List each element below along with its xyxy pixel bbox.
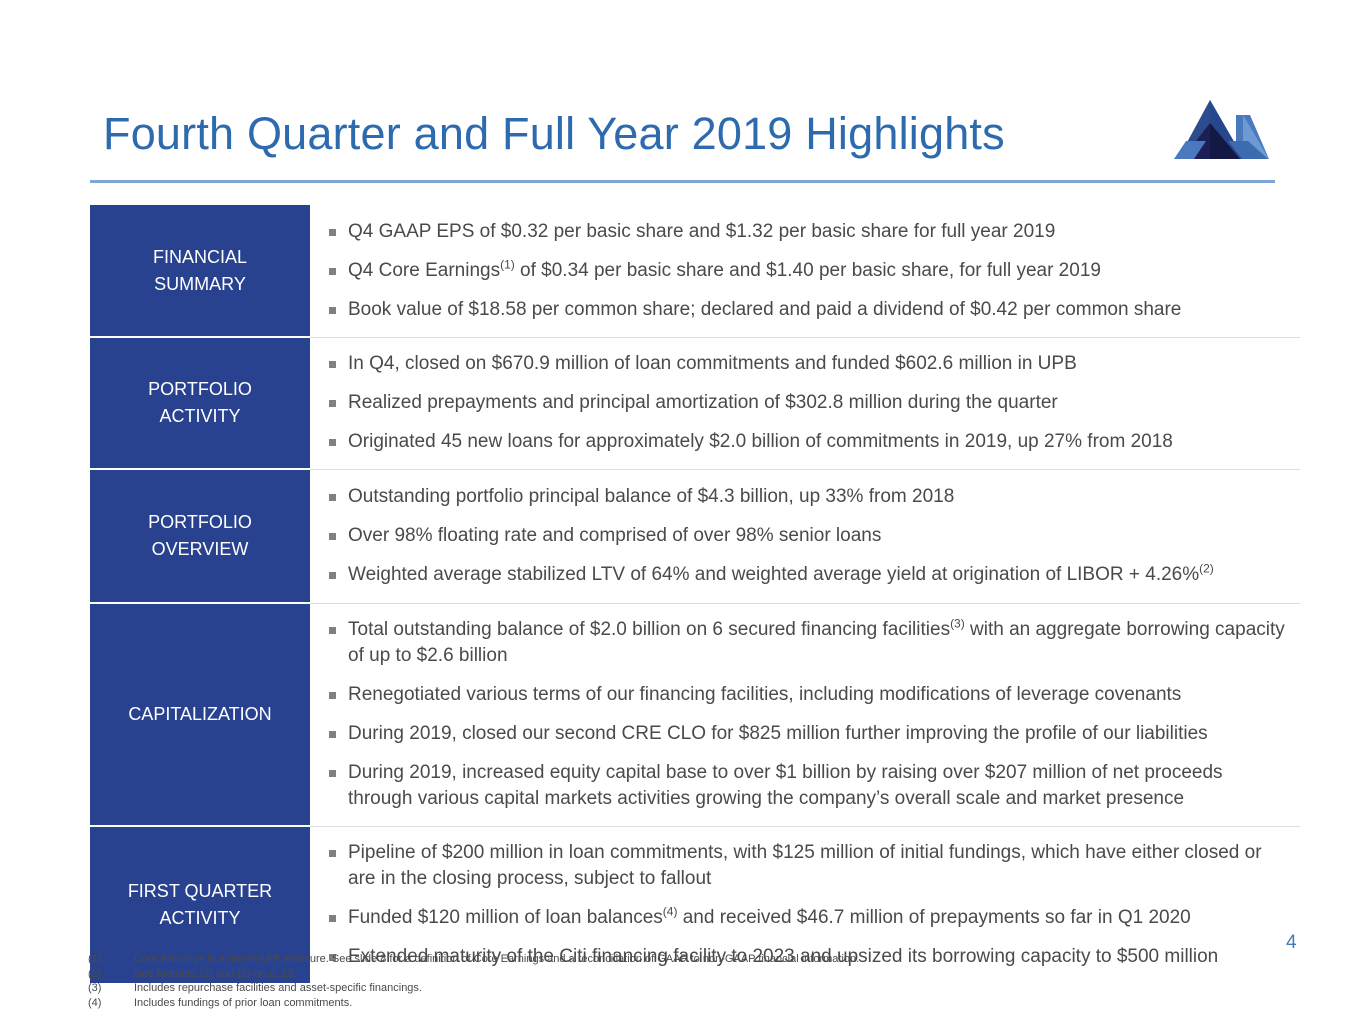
footnote-row: (1) Core Earnings is a non-GAAP measure.…: [88, 952, 1088, 967]
list-item: Renegotiated various terms of our financ…: [310, 682, 1292, 708]
list-item: Total outstanding balance of $2.0 billio…: [310, 617, 1292, 669]
section-label-financial-summary: FINANCIAL SUMMARY: [90, 205, 310, 338]
bullet-text: Renegotiated various terms of our financ…: [348, 684, 1181, 705]
square-bullet-icon: [329, 439, 336, 446]
square-bullet-icon: [329, 229, 336, 236]
square-bullet-icon: [329, 268, 336, 275]
bullet-text: Total outstanding balance of $2.0 billio…: [348, 619, 1285, 666]
footnote-row: (2) See footnote (2) and (3) on p. 13.: [88, 967, 1088, 982]
page-title: Fourth Quarter and Full Year 2019 Highli…: [103, 96, 1005, 172]
section-body-financial-summary: Q4 GAAP EPS of $0.32 per basic share and…: [310, 205, 1300, 337]
table-row-capitalization: CAPITALIZATION Total outstanding balance…: [90, 604, 1300, 827]
footnote-reference: (4): [663, 905, 678, 919]
square-bullet-icon: [329, 494, 336, 501]
list-item: Funded $120 million of loan balances(4) …: [310, 905, 1292, 931]
footnote-text: Includes fundings of prior loan commitme…: [134, 996, 1088, 1011]
footnote-reference: (3): [950, 617, 965, 631]
table-row-portfolio-overview: PORTFOLIO OVERVIEW Outstanding portfolio…: [90, 470, 1300, 604]
list-item: Realized prepayments and principal amort…: [310, 390, 1292, 416]
section-label-line: FIRST QUARTER: [128, 878, 272, 905]
bullet-text: Outstanding portfolio principal balance …: [348, 486, 954, 507]
square-bullet-icon: [329, 572, 336, 579]
list-item: In Q4, closed on $670.9 million of loan …: [310, 351, 1292, 377]
bullet-text: Book value of $18.58 per common share; d…: [348, 299, 1181, 320]
footnote-marker: (3): [88, 981, 134, 996]
footnote-row: (3) Includes repurchase facilities and a…: [88, 981, 1088, 996]
section-label-portfolio-overview: PORTFOLIO OVERVIEW: [90, 470, 310, 604]
bullet-text: Realized prepayments and principal amort…: [348, 392, 1058, 413]
square-bullet-icon: [329, 627, 336, 634]
highlights-table: FINANCIAL SUMMARY Q4 GAAP EPS of $0.32 p…: [90, 205, 1300, 984]
page-number: 4: [1286, 932, 1297, 954]
section-body-capitalization: Total outstanding balance of $2.0 billio…: [310, 604, 1300, 826]
bullet-text: In Q4, closed on $670.9 million of loan …: [348, 353, 1077, 374]
list-item: Q4 GAAP EPS of $0.32 per basic share and…: [310, 219, 1292, 245]
footnote-marker: (2): [88, 967, 134, 982]
square-bullet-icon: [329, 915, 336, 922]
section-body-portfolio-overview: Outstanding portfolio principal balance …: [310, 470, 1300, 603]
footnote-row: (4) Includes fundings of prior loan comm…: [88, 996, 1088, 1011]
footnote-reference: (1): [500, 258, 515, 272]
square-bullet-icon: [329, 307, 336, 314]
bullet-list: Total outstanding balance of $2.0 billio…: [310, 617, 1292, 812]
list-item: Pipeline of $200 million in loan commitm…: [310, 840, 1292, 892]
square-bullet-icon: [329, 692, 336, 699]
section-label-capitalization: CAPITALIZATION: [90, 604, 310, 827]
section-label-line: OVERVIEW: [148, 536, 252, 563]
square-bullet-icon: [329, 770, 336, 777]
footnotes-block: (1) Core Earnings is a non-GAAP measure.…: [88, 952, 1088, 1010]
list-item: Originated 45 new loans for approximatel…: [310, 429, 1292, 455]
bullet-text: Weighted average stabilized LTV of 64% a…: [348, 564, 1214, 585]
bullet-text: During 2019, increased equity capital ba…: [348, 762, 1223, 809]
section-label-line: FINANCIAL: [153, 244, 247, 271]
square-bullet-icon: [329, 400, 336, 407]
mountain-logo: [1172, 97, 1272, 167]
footnote-text: Includes repurchase facilities and asset…: [134, 981, 1088, 996]
bullet-text: Funded $120 million of loan balances(4) …: [348, 907, 1191, 928]
bullet-list: Outstanding portfolio principal balance …: [310, 484, 1292, 588]
list-item: Q4 Core Earnings(1) of $0.34 per basic s…: [310, 258, 1292, 284]
bullet-list: Q4 GAAP EPS of $0.32 per basic share and…: [310, 219, 1292, 323]
list-item: Weighted average stabilized LTV of 64% a…: [310, 562, 1292, 588]
footnote-marker: (4): [88, 996, 134, 1011]
slide-header: Fourth Quarter and Full Year 2019 Highli…: [90, 96, 1305, 186]
square-bullet-icon: [329, 533, 336, 540]
footnote-marker: (1): [88, 952, 134, 967]
bullet-text: Originated 45 new loans for approximatel…: [348, 431, 1173, 452]
list-item: During 2019, closed our second CRE CLO f…: [310, 721, 1292, 747]
bullet-text: Pipeline of $200 million in loan commitm…: [348, 842, 1262, 889]
list-item: Outstanding portfolio principal balance …: [310, 484, 1292, 510]
table-row-financial-summary: FINANCIAL SUMMARY Q4 GAAP EPS of $0.32 p…: [90, 205, 1300, 338]
bullet-text: Over 98% floating rate and comprised of …: [348, 525, 881, 546]
section-label-line: PORTFOLIO: [148, 376, 252, 403]
section-label-line: ACTIVITY: [148, 403, 252, 430]
list-item: During 2019, increased equity capital ba…: [310, 760, 1292, 812]
bullet-text: During 2019, closed our second CRE CLO f…: [348, 723, 1208, 744]
bullet-text: Q4 Core Earnings(1) of $0.34 per basic s…: [348, 260, 1101, 281]
section-label-line: CAPITALIZATION: [128, 701, 271, 728]
bullet-list: In Q4, closed on $670.9 million of loan …: [310, 351, 1292, 455]
bullet-text: Q4 GAAP EPS of $0.32 per basic share and…: [348, 221, 1055, 242]
bullet-list: Pipeline of $200 million in loan commitm…: [310, 840, 1292, 970]
title-underline-rule: [90, 180, 1275, 183]
square-bullet-icon: [329, 850, 336, 857]
section-label-portfolio-activity: PORTFOLIO ACTIVITY: [90, 338, 310, 470]
list-item: Over 98% floating rate and comprised of …: [310, 523, 1292, 549]
section-label-line: SUMMARY: [153, 271, 247, 298]
footnote-text: Core Earnings is a non-GAAP measure. See…: [134, 952, 1088, 967]
footnote-text: See footnote (2) and (3) on p. 13.: [134, 967, 1088, 982]
section-label-line: ACTIVITY: [128, 905, 272, 932]
section-body-portfolio-activity: In Q4, closed on $670.9 million of loan …: [310, 338, 1300, 469]
section-label-line: PORTFOLIO: [148, 509, 252, 536]
list-item: Book value of $18.58 per common share; d…: [310, 297, 1292, 323]
square-bullet-icon: [329, 731, 336, 738]
square-bullet-icon: [329, 361, 336, 368]
table-row-portfolio-activity: PORTFOLIO ACTIVITY In Q4, closed on $670…: [90, 338, 1300, 470]
footnote-reference: (2): [1199, 562, 1214, 576]
